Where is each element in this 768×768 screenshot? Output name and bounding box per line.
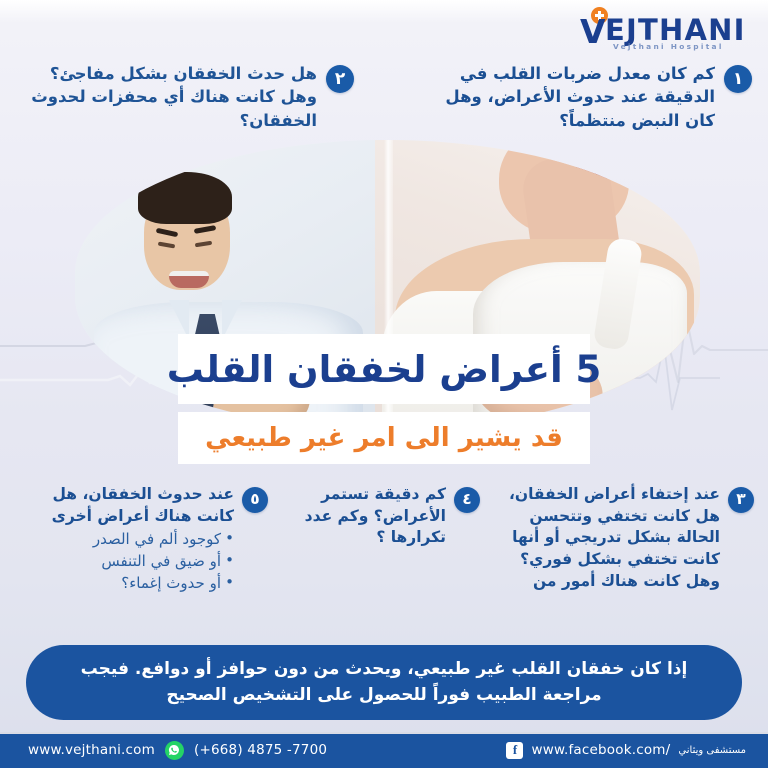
question-3-badge: ٣ <box>728 487 754 513</box>
page-title: 5 أعراض لخفقان القلب <box>167 351 602 388</box>
question-2: ٢ هل حدث الخفقان بشكل مفاجئ؟ وهل كانت هن… <box>14 62 354 132</box>
logo-mark: V EJTHANI Vejthani Hospital <box>580 7 730 53</box>
infographic-poster: V EJTHANI Vejthani Hospital ١ كم كان معد… <box>0 0 768 768</box>
whatsapp-icon[interactable] <box>165 741 184 760</box>
phone-number[interactable]: (+668) 4875 -7700 <box>194 742 327 758</box>
vejthani-logo: V EJTHANI Vejthani Hospital <box>580 6 750 54</box>
advisory-banner-text: إذا كان خفقان القلب غير طبيعي، ويحدث من … <box>68 657 700 708</box>
question-1: ١ كم كان معدل ضربات القلب في الدقيقة عند… <box>422 62 752 132</box>
facebook-icon[interactable]: f <box>506 742 523 759</box>
list-item: أو ضيق في التنفس <box>16 551 234 573</box>
question-5-badge: ٥ <box>242 487 268 513</box>
facebook-link[interactable]: www.facebook.com/ <box>531 742 670 758</box>
question-3-text: عند إختفاء أعراض الخفقان، هل كانت تختفي … <box>486 484 720 592</box>
question-1-badge: ١ <box>724 65 752 93</box>
logo-letter-v: V <box>580 15 606 48</box>
question-5: ٥ عند حدوث الخفقان، هل كانت هناك أعراض أ… <box>16 484 268 595</box>
footer-contact-left: www.vejthani.com (+668) 4875 -7700 <box>28 741 327 760</box>
footer-bar: www.vejthani.com (+668) 4875 -7700 f www… <box>0 732 768 768</box>
question-4-badge: ٤ <box>454 487 480 513</box>
website-link[interactable]: www.vejthani.com <box>28 742 155 758</box>
question-5-symptom-list: كوجود ألم في الصدر أو ضيق في التنفس أو ح… <box>16 529 234 594</box>
logo-wordmark: EJTHANI <box>605 16 746 45</box>
question-4-text: كم دقيقة تستمر الأعراض؟ وكم عدد تكرارها … <box>280 484 446 549</box>
subtitle-band: قد يشير الى امر غير طبيعي <box>178 412 590 464</box>
question-5-text: عند حدوث الخفقان، هل كانت هناك أعراض أخر… <box>16 484 234 527</box>
man-mouth <box>169 271 209 288</box>
page-subtitle: قد يشير الى امر غير طبيعي <box>205 425 563 451</box>
list-item: كوجود ألم في الصدر <box>16 529 234 551</box>
question-2-text: هل حدث الخفقان بشكل مفاجئ؟ وهل كانت هناك… <box>14 62 317 132</box>
question-1-text: كم كان معدل ضربات القلب في الدقيقة عند ح… <box>422 62 715 132</box>
footer-divider <box>0 732 768 734</box>
facebook-page-name-arabic: مستشفى ويثاني <box>678 745 746 756</box>
advisory-banner: إذا كان خفقان القلب غير طبيعي، ويحدث من … <box>26 645 742 720</box>
list-item: أو حدوث إغماء؟ <box>16 573 234 595</box>
man-hair <box>138 172 232 224</box>
title-band: 5 أعراض لخفقان القلب <box>178 334 590 404</box>
footer-contact-right: f www.facebook.com/ مستشفى ويثاني <box>506 742 746 759</box>
question-3: ٣ عند إختفاء أعراض الخفقان، هل كانت تختف… <box>486 484 754 592</box>
question-2-badge: ٢ <box>326 65 354 93</box>
logo-tagline: Vejthani Hospital <box>613 42 724 51</box>
question-4: ٤ كم دقيقة تستمر الأعراض؟ وكم عدد تكراره… <box>280 484 480 549</box>
